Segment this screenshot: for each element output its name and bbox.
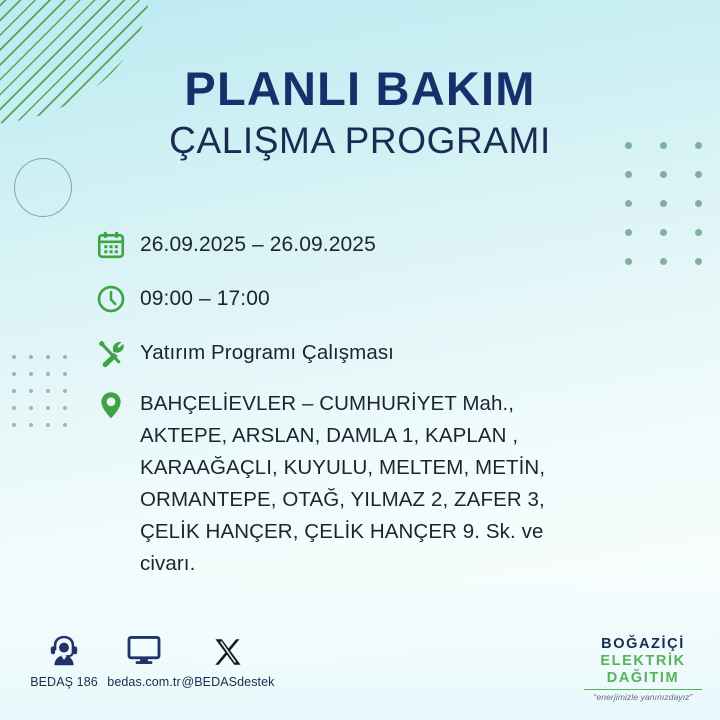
info-row-work-type: Yatırım Programı Çalışması [96, 334, 656, 372]
calendar-icon [96, 226, 140, 264]
info-value-time: 09:00 – 17:00 [140, 280, 270, 314]
brand-line-1: BOĞAZİÇİ [578, 636, 708, 653]
circle-outline-decoration [14, 158, 72, 217]
location-pin-icon [96, 388, 140, 422]
tools-icon [96, 334, 140, 372]
info-value-work-type: Yatırım Programı Çalışması [140, 334, 394, 368]
page-subtitle: ÇALIŞMA PROGRAMI [0, 118, 720, 164]
info-row-address: BAHÇELİEVLER – CUMHURİYET Mah., AKTEPE, … [96, 388, 656, 580]
info-row-date: 26.09.2025 – 26.09.2025 [96, 226, 656, 264]
poster-footer: BEDAŞ 186 bedas.com.tr @BEDASdestek BOĞA… [0, 610, 720, 720]
info-value-date: 26.09.2025 – 26.09.2025 [140, 226, 376, 260]
contact-x-handle[interactable]: @BEDASdestek [168, 628, 288, 689]
info-row-time: 09:00 – 17:00 [96, 280, 656, 318]
contact-x-label: @BEDASdestek [168, 675, 288, 689]
clock-icon [96, 280, 140, 318]
x-twitter-icon [168, 628, 288, 668]
info-value-address: BAHÇELİEVLER – CUMHURİYET Mah., AKTEPE, … [140, 388, 560, 580]
info-list: 26.09.2025 – 26.09.2025 09:00 – 17:00 [96, 226, 656, 580]
dot-grid-left-decoration [12, 355, 80, 440]
brand-tagline: “enerjimizle yanınızdayız” [578, 692, 708, 702]
poster-header: PLANLI BAKIM ÇALIŞMA PROGRAMI [0, 62, 720, 164]
brand-logo: BOĞAZİÇİ ELEKTRİK DAĞITIM “enerjimizle y… [578, 636, 708, 703]
brand-line-3: DAĞITIM [578, 670, 708, 687]
page-title: PLANLI BAKIM [0, 62, 720, 116]
brand-line-2: ELEKTRİK [578, 653, 708, 670]
brand-divider [584, 689, 702, 691]
poster-canvas: PLANLI BAKIM ÇALIŞMA PROGRAMI 26 [0, 0, 720, 720]
